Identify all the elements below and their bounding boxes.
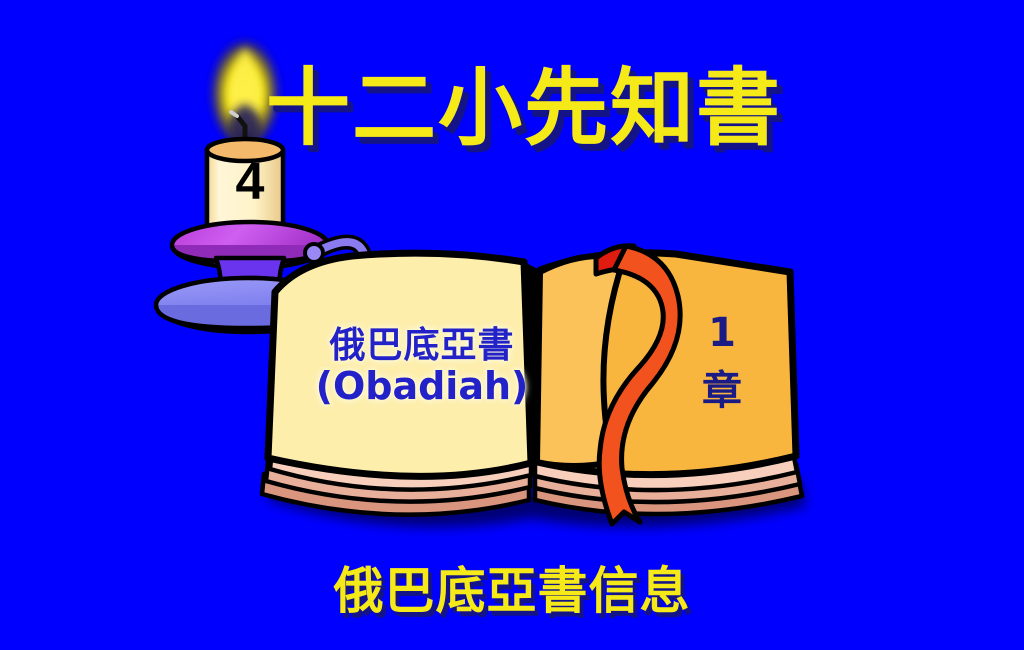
candle-number-label: 4 xyxy=(214,152,286,212)
book-right-page-chapter-unit: 章 xyxy=(672,358,772,416)
slide-caption: 俄巴底亞書信息 xyxy=(0,551,1024,623)
slide-canvas: 4 十二小先知書 俄巴底亞書 (Obadiah) 1 章 俄巴底亞書信息 xyxy=(0,0,1024,650)
book-left-page-title-english: (Obadiah) xyxy=(300,364,544,408)
page-title: 十二小先知書 xyxy=(0,66,1024,150)
book-left-page-title-chinese: 俄巴底亞書 xyxy=(300,316,544,368)
book-right-page-chapter-number: 1 xyxy=(672,310,772,356)
